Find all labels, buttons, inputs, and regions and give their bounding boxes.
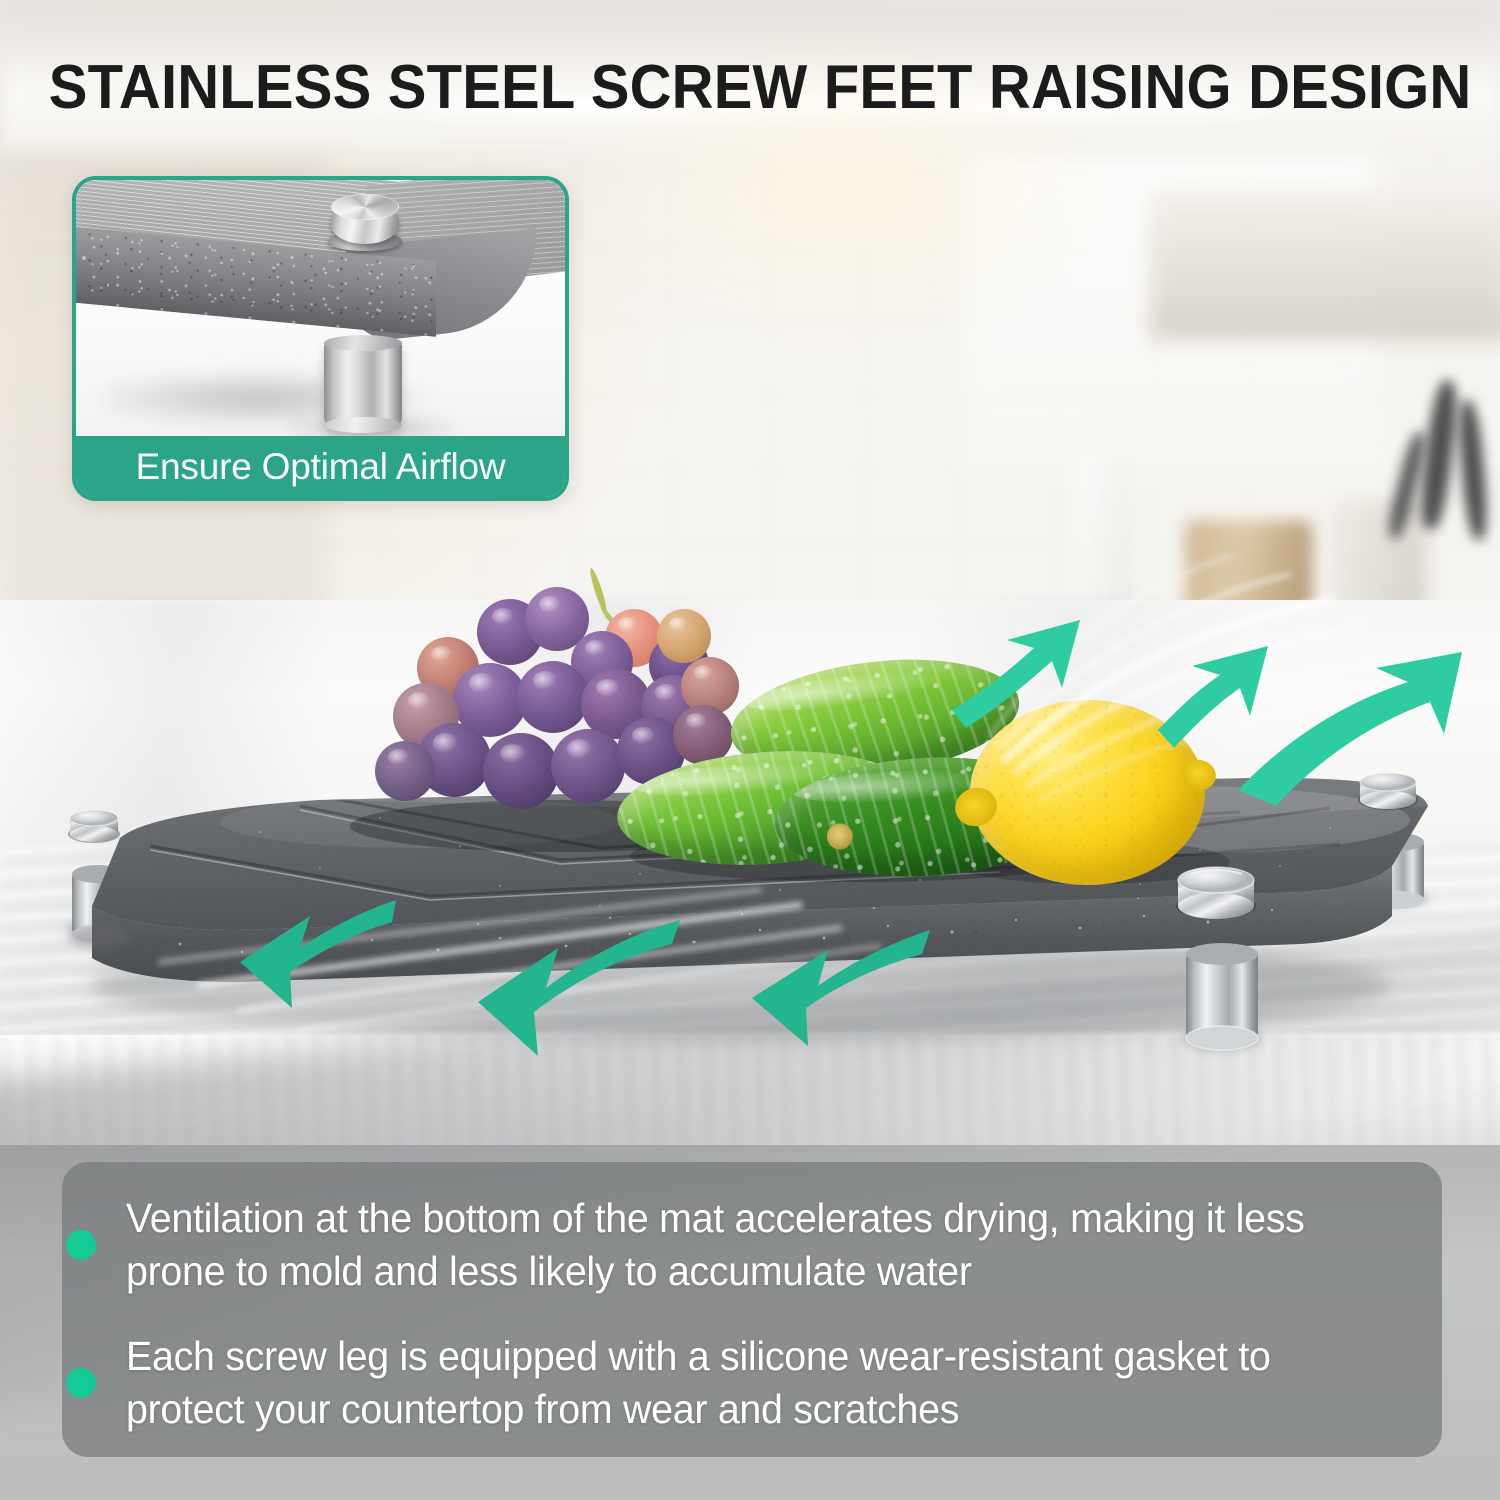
bullet-dot-icon: [66, 1368, 96, 1398]
feature-item-2: Each screw leg is equipped with a silico…: [66, 1330, 1366, 1437]
airflow-arrow-down-3: [752, 930, 930, 1046]
airflow-arrow-up-2: [1158, 646, 1268, 748]
airflow-callout-card: Ensure Optimal Airflow: [72, 176, 569, 501]
screw-foot-closeup-photo: [76, 180, 565, 440]
airflow-arrow-up-3: [1238, 652, 1462, 806]
air-streaks-upper: [990, 556, 1420, 800]
bullet-dot-icon: [66, 1230, 96, 1260]
callout-caption-bar: Ensure Optimal Airflow: [76, 436, 565, 497]
callout-caption-text: Ensure Optimal Airflow: [136, 446, 506, 488]
closeup-steel-foot: [324, 335, 402, 433]
airflow-arrow-down-group: [240, 900, 930, 1056]
page-title: STAINLESS STEEL SCREW FEET RAISING DESIG…: [49, 52, 1452, 123]
feature-item-1: Ventilation at the bottom of the mat acc…: [66, 1192, 1366, 1299]
closeup-screw-cap: [328, 194, 402, 252]
airflow-arrow-up-group: [952, 620, 1462, 806]
product-feature-image: STAINLESS STEEL SCREW FEET RAISING DESIG…: [0, 0, 1500, 1500]
feature-text-2: Each screw leg is equipped with a silico…: [126, 1330, 1316, 1437]
feature-text-1: Ventilation at the bottom of the mat acc…: [126, 1192, 1316, 1299]
